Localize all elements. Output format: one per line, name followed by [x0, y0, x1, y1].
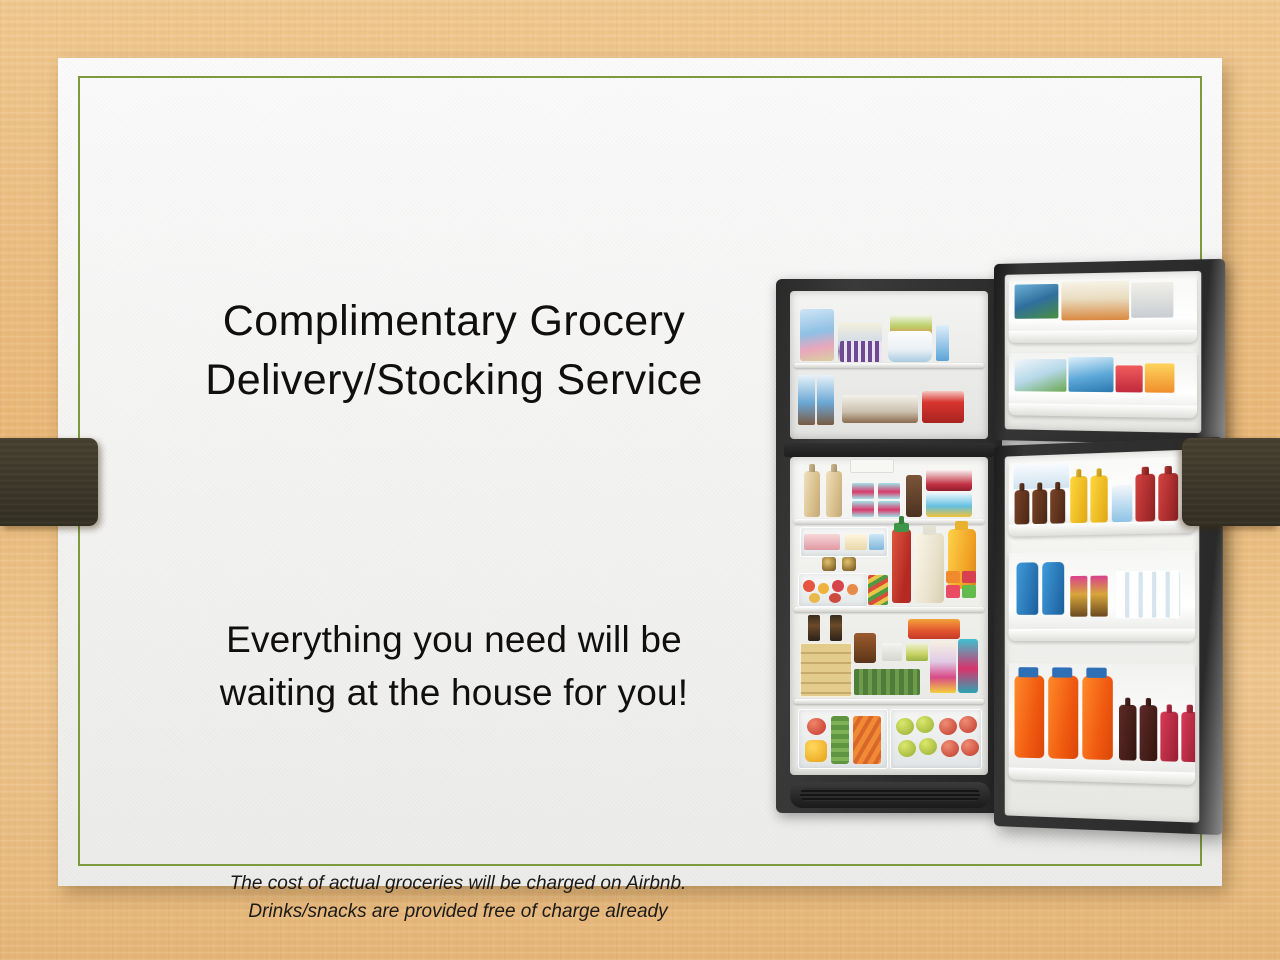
frozen-food-package [1131, 282, 1173, 318]
olives-jar [1070, 576, 1087, 617]
berry-container [926, 469, 972, 491]
dressing-bottle [1112, 485, 1133, 523]
jug-cap [955, 521, 968, 530]
frozen-snack-box [1145, 363, 1175, 392]
fruit-piece [809, 593, 820, 603]
olive-jar [822, 557, 836, 571]
freezer-door-bin-upper [1009, 277, 1197, 343]
creamer-bottle [1042, 562, 1064, 615]
door-bin-condiments [1009, 456, 1195, 537]
carrots-package [853, 716, 881, 764]
green-beans-package [831, 716, 849, 764]
carrot-package [908, 619, 960, 639]
chocolate-milk-bottle [1032, 489, 1047, 524]
beverage-carton [958, 639, 978, 693]
bin-front-lip [1009, 629, 1195, 642]
pickled-vegetables-jar [868, 575, 888, 605]
red-storage-container [922, 391, 964, 423]
cheese-container [926, 493, 972, 517]
butter-container [882, 643, 902, 661]
page-title: Complimentary Grocery Delivery/Stocking … [154, 292, 754, 410]
sauce-bottle [1181, 712, 1195, 762]
yogurt-cup [878, 501, 900, 517]
sauce-jar [906, 475, 922, 517]
mustard-bottle [1070, 476, 1087, 523]
bottle-cap [1052, 667, 1072, 677]
chocolate-milk-bottle [1015, 490, 1030, 525]
bin-front-lip [1009, 767, 1195, 785]
body-text: Everything you need will be waiting at t… [154, 614, 754, 719]
milk-jug [914, 533, 944, 603]
sauce-bottle [1160, 712, 1178, 762]
frozen-dessert-bars-box [840, 341, 882, 362]
freezer-door-liner [1005, 271, 1202, 433]
pasta-storage-jars [800, 643, 852, 697]
refrigerator-shelf [794, 699, 984, 704]
footnote-text: The cost of actual groceries will be cha… [168, 870, 748, 925]
door-bin-sodas [1009, 663, 1195, 785]
bin-front-lip [1009, 330, 1197, 343]
orange-soda-bottle [1082, 676, 1113, 760]
milk-bottle [826, 471, 842, 517]
fruit-piece [832, 580, 844, 592]
gelatin-cup [946, 585, 960, 598]
gelatin-cup [946, 571, 960, 583]
olive-jar [842, 557, 856, 571]
frozen-fruit-bag [1116, 365, 1143, 392]
mustard-bottle [1090, 475, 1107, 523]
ribbon-right [1182, 438, 1280, 526]
dressing-bottle [830, 615, 842, 641]
freezer-door[interactable] [994, 259, 1225, 445]
red-apple [941, 740, 959, 757]
frozen-fish-box [798, 375, 815, 425]
crisper-drawer-fruit [890, 709, 982, 769]
frozen-vegetable-bag [1015, 359, 1067, 392]
ribbon-left [0, 438, 98, 526]
frozen-entree-box [1061, 281, 1129, 321]
yogurt-cup [852, 501, 874, 517]
yellow-pepper [805, 740, 827, 762]
fruit-piece [803, 580, 815, 592]
red-apple [939, 718, 957, 735]
deli-meat-drawer [800, 527, 888, 557]
yogurt-cup [878, 483, 900, 499]
deli-meat-slices [804, 534, 840, 550]
bin-front-lip [1009, 403, 1197, 418]
juice-box-pack [930, 641, 956, 693]
refrigerator-shelf [794, 607, 984, 612]
fruit-piece [847, 584, 858, 595]
dressing-bottle [808, 615, 820, 641]
stocked-refrigerator-photo [772, 254, 1250, 842]
compartment-divider [784, 443, 994, 457]
ice-cream-tub [888, 331, 932, 362]
freezer-interior [790, 291, 988, 439]
refrigerator-cabinet [776, 279, 1002, 813]
deli-package [869, 534, 884, 550]
gelatin-cup [962, 571, 976, 583]
fruit-salad-container [798, 573, 868, 607]
bottle-cap [894, 523, 909, 532]
wrapped-frozen-fish-package [842, 395, 918, 423]
slide-card: Complimentary Grocery Delivery/Stocking … [58, 58, 1222, 886]
bottle-cap [1018, 667, 1038, 677]
ketchup-bottle [1158, 473, 1178, 521]
fruit-piece [829, 593, 841, 603]
creamer-bottle [1017, 562, 1039, 615]
sauce-bottle [1119, 705, 1137, 761]
frozen-juice-box [936, 325, 949, 361]
frozen-fish-box [817, 375, 834, 425]
frozen-pizza-box [1068, 357, 1113, 392]
asparagus-package [854, 669, 920, 695]
crisper-drawer-vegetables [798, 709, 888, 769]
refrigerator-door-liner [1005, 449, 1200, 822]
sauce-bottle [1140, 705, 1158, 761]
refrigerator-interior [790, 457, 988, 775]
red-apple [959, 716, 977, 733]
freezer-door-bin-lower [1009, 353, 1197, 418]
temperature-control-panel [850, 459, 894, 473]
milk-bottle [804, 471, 820, 517]
green-apple [916, 716, 934, 733]
gelatin-cup [962, 585, 976, 598]
yogurt-cup [852, 483, 874, 499]
olives-jar [1090, 576, 1107, 617]
ketchup-bottle [1135, 474, 1155, 522]
green-apple [898, 740, 916, 757]
frozen-vegetable-bag [800, 309, 834, 361]
chocolate-milk-bottle [1050, 489, 1065, 524]
frozen-vegetable-box [1015, 284, 1059, 319]
tomato [807, 718, 826, 735]
base-grille [790, 782, 990, 808]
red-apple [961, 739, 979, 756]
green-apple [919, 738, 937, 755]
door-bin-beverages [1009, 549, 1195, 641]
fruit-piece [818, 583, 829, 594]
ketchup-bottle [892, 529, 911, 603]
jug-cap [923, 525, 936, 535]
orange-soda-bottle [1048, 675, 1078, 759]
sliced-cheese [845, 534, 867, 550]
freezer-shelf [794, 363, 984, 368]
jam-jar [854, 633, 876, 663]
slide-root: Complimentary Grocery Delivery/Stocking … [0, 0, 1280, 960]
water-bottles-pack [1115, 571, 1181, 619]
cheese-package [906, 643, 928, 661]
green-apple [896, 718, 914, 735]
orange-soda-bottle [1015, 675, 1045, 758]
bottle-cap [1086, 668, 1106, 678]
